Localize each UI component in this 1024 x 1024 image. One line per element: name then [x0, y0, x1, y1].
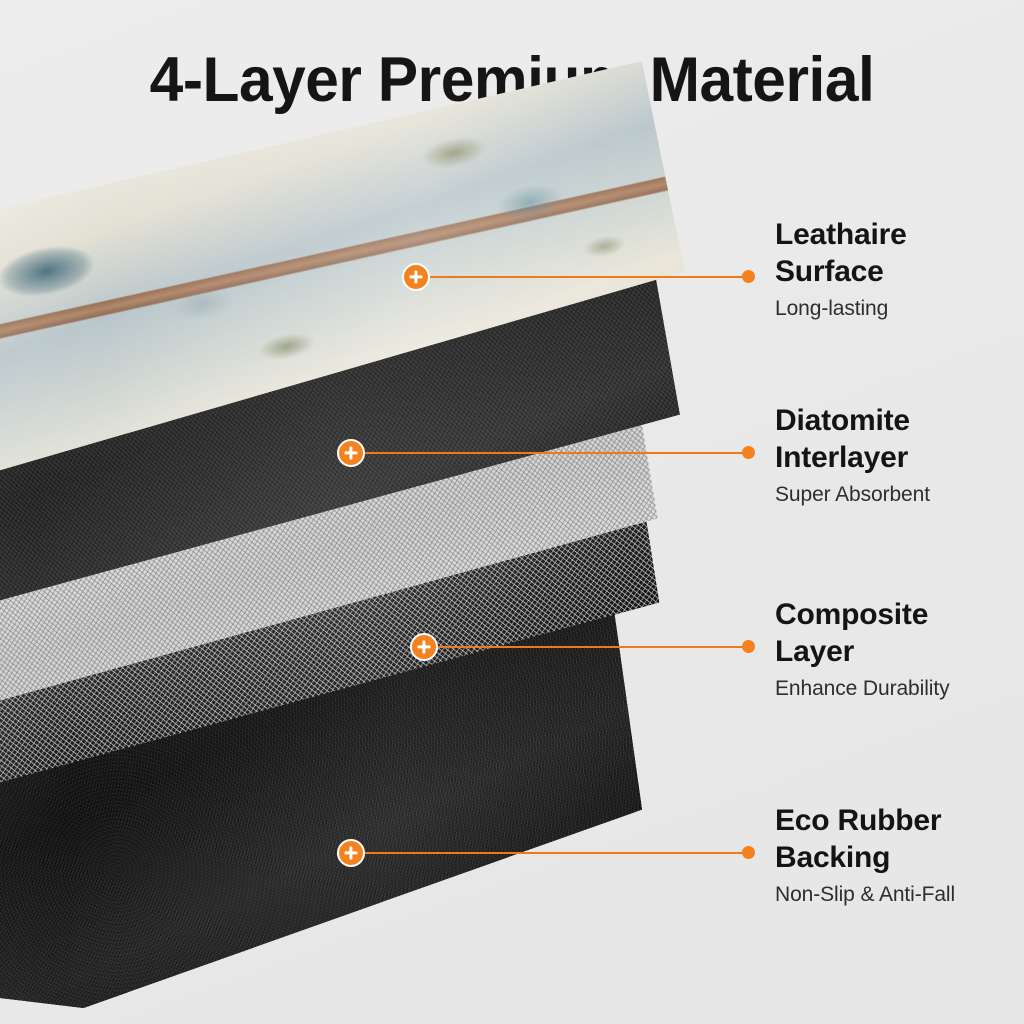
- label-title-line1: Diatomite: [775, 402, 1020, 439]
- callout-enddot-4: [742, 846, 755, 859]
- label-subtitle: Non-Slip & Anti-Fall: [775, 881, 1020, 908]
- layer-stack-illustration: [0, 0, 700, 1024]
- label-title-line2: Interlayer: [775, 439, 1020, 476]
- label-subtitle: Super Absorbent: [775, 481, 1020, 508]
- label-block-composite-layer: Composite Layer Enhance Durability: [775, 596, 1020, 702]
- label-title-line1: Leathaire: [775, 216, 1020, 253]
- callout-line-1: [416, 276, 749, 278]
- callout-line-2: [351, 452, 749, 454]
- plus-icon[interactable]: [337, 839, 365, 867]
- infographic-canvas: 4-Layer Premium Material Leathaire Surfa…: [0, 0, 1024, 1024]
- label-subtitle: Enhance Durability: [775, 675, 1020, 702]
- plus-icon[interactable]: [337, 439, 365, 467]
- callout-line-3: [424, 646, 749, 648]
- label-block-leathaire-surface: Leathaire Surface Long-lasting: [775, 216, 1020, 322]
- label-title-line1: Composite: [775, 596, 1020, 633]
- callout-enddot-2: [742, 446, 755, 459]
- callout-line-4: [351, 852, 749, 854]
- label-title-line2: Backing: [775, 839, 1020, 876]
- label-title-line2: Surface: [775, 253, 1020, 290]
- callout-enddot-1: [742, 270, 755, 283]
- plus-icon[interactable]: [402, 263, 430, 291]
- callout-enddot-3: [742, 640, 755, 653]
- label-block-eco-rubber-backing: Eco Rubber Backing Non-Slip & Anti-Fall: [775, 802, 1020, 908]
- label-subtitle: Long-lasting: [775, 295, 1020, 322]
- label-title-line2: Layer: [775, 633, 1020, 670]
- label-title-line1: Eco Rubber: [775, 802, 1020, 839]
- label-block-diatomite-interlayer: Diatomite Interlayer Super Absorbent: [775, 402, 1020, 508]
- plus-icon[interactable]: [410, 633, 438, 661]
